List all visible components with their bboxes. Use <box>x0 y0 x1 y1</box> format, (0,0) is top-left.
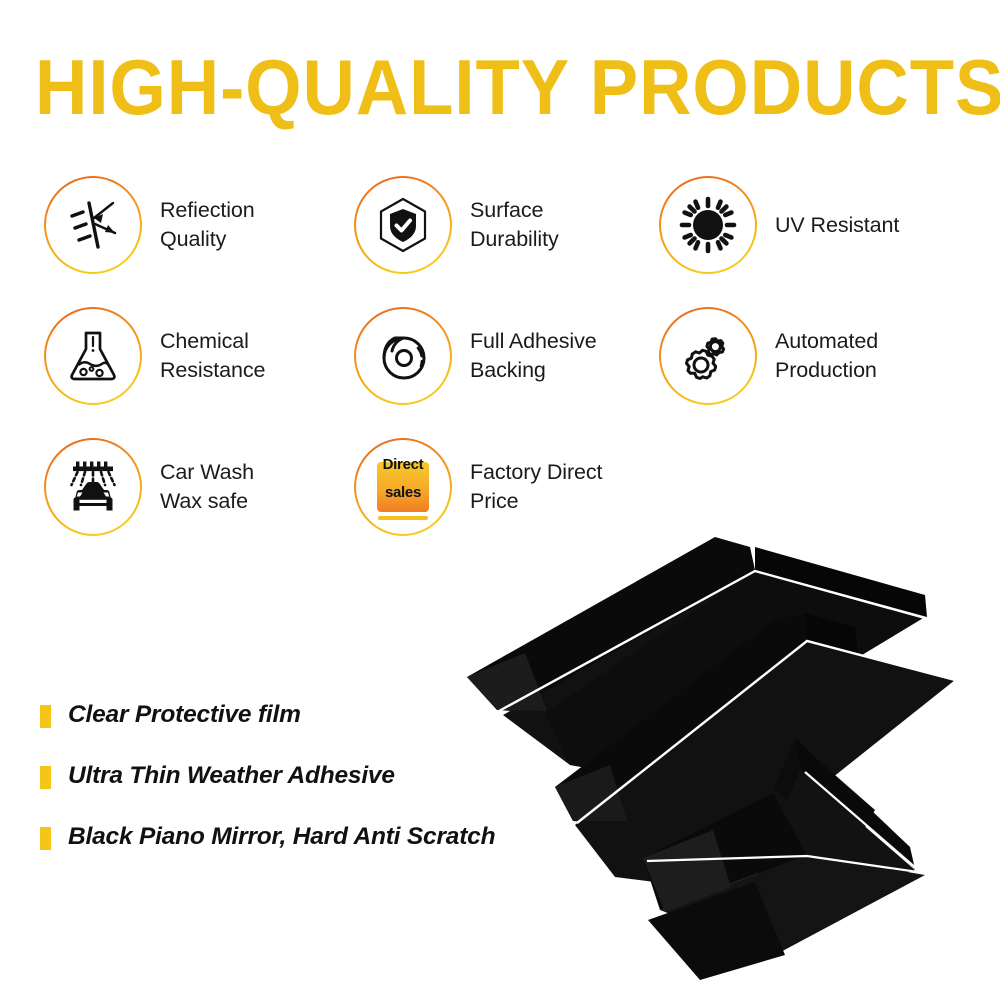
feature-label: Chemical Resistance <box>160 327 265 385</box>
reflection-icon <box>63 195 123 255</box>
feature-full-adhesive-backing[interactable]: Full Adhesive Backing <box>354 307 597 405</box>
feature-icon-circle <box>354 307 452 405</box>
feature-label: Factory Direct Price <box>470 458 602 516</box>
feature-icon-circle: Direct sales <box>354 438 452 536</box>
feature-automated-production[interactable]: Automated Production <box>659 307 878 405</box>
feature-icon-circle <box>44 176 142 274</box>
feature-surface-durability[interactable]: Surface Durability <box>354 176 559 274</box>
badge-line-1: Direct <box>373 457 433 472</box>
feature-uv-resistant[interactable]: UV Resistant <box>659 176 899 274</box>
feature-chemical-resistance[interactable]: Chemical Resistance <box>44 307 265 405</box>
gears-icon <box>678 326 738 386</box>
benefit-list: Clear Protective film Ultra Thin Weather… <box>40 700 510 883</box>
badge-underline <box>378 516 428 520</box>
bullet-text: Clear Protective film <box>68 700 301 731</box>
feature-icon-circle <box>44 438 142 536</box>
feature-label: UV Resistant <box>775 211 899 240</box>
feature-grid: Refiection Quality Surface Durability <box>0 176 1000 580</box>
badge-line-2: sales <box>373 485 433 500</box>
feature-icon-circle <box>659 307 757 405</box>
flask-icon <box>64 327 122 385</box>
bullet-marker-icon <box>40 705 51 728</box>
infographic-page: HIGH-QUALITY PRODUCTS <box>0 0 1000 1000</box>
bullet-marker-icon <box>40 766 51 789</box>
feature-icon-circle <box>354 176 452 274</box>
feature-icon-circle <box>44 307 142 405</box>
sun-icon <box>678 195 738 255</box>
shield-check-hexagon-icon <box>373 195 433 255</box>
page-title: HIGH-QUALITY PRODUCTS <box>35 48 965 126</box>
feature-label: Refiection Quality <box>160 196 255 254</box>
feature-icon-circle <box>659 176 757 274</box>
car-wash-icon <box>62 459 124 515</box>
feature-car-wash-wax-safe[interactable]: Car Wash Wax safe <box>44 438 254 536</box>
feature-label: Car Wash Wax safe <box>160 458 254 516</box>
list-item: Black Piano Mirror, Hard Anti Scratch <box>40 822 510 853</box>
feature-label: Full Adhesive Backing <box>470 327 597 385</box>
feature-factory-direct-price[interactable]: Direct sales Factory Direct Price <box>354 438 602 536</box>
tape-roll-icon <box>373 326 433 386</box>
bullet-marker-icon <box>40 827 51 850</box>
list-item: Ultra Thin Weather Adhesive <box>40 761 510 792</box>
direct-sales-badge-icon: Direct sales <box>373 454 433 520</box>
list-item: Clear Protective film <box>40 700 510 731</box>
bullet-text: Black Piano Mirror, Hard Anti Scratch <box>68 822 495 853</box>
feature-label: Automated Production <box>775 327 878 385</box>
product-image-pillar-trim <box>455 525 1000 985</box>
feature-reflection-quality[interactable]: Refiection Quality <box>44 176 255 274</box>
bullet-text: Ultra Thin Weather Adhesive <box>68 761 395 792</box>
feature-label: Surface Durability <box>470 196 559 254</box>
